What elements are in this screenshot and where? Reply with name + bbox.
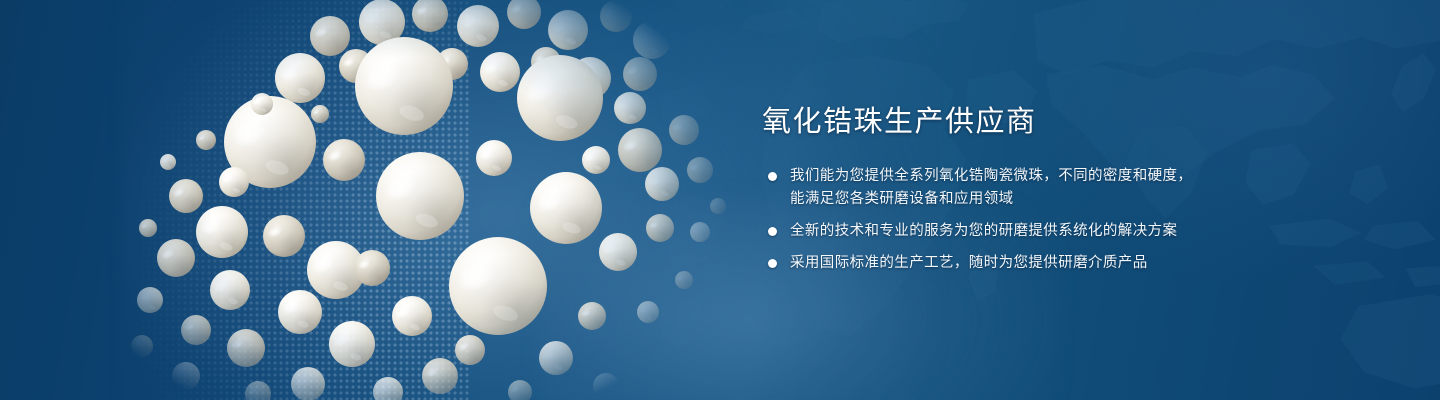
bullet-dot-icon <box>768 259 777 268</box>
bullet-text-line: 能满足您各类研磨设备和应用领域 <box>790 188 1382 211</box>
bullet-item-3: 采用国际标准的生产工艺，随时为您提供研磨介质产品 <box>762 252 1382 275</box>
hero-banner: 氧化锆珠生产供应商 我们能为您提供全系列氧化锆陶瓷微珠，不同的密度和硬度， 能满… <box>0 0 1440 400</box>
bullet-text-line: 全新的技术和专业的服务为您的研磨提供系统化的解决方案 <box>790 220 1382 243</box>
banner-bullet-list: 我们能为您提供全系列氧化锆陶瓷微珠，不同的密度和硬度， 能满足您各类研磨设备和应… <box>762 165 1382 275</box>
bullet-item-1: 我们能为您提供全系列氧化锆陶瓷微珠，不同的密度和硬度， 能满足您各类研磨设备和应… <box>762 165 1382 211</box>
bullet-text-line: 我们能为您提供全系列氧化锆陶瓷微珠，不同的密度和硬度， <box>790 165 1382 188</box>
bullet-dot-icon <box>768 172 777 181</box>
banner-headline: 氧化锆珠生产供应商 <box>762 104 1382 139</box>
zirconia-beads-image <box>0 0 760 400</box>
bullet-text-line: 采用国际标准的生产工艺，随时为您提供研磨介质产品 <box>790 252 1382 275</box>
bullet-item-2: 全新的技术和专业的服务为您的研磨提供系统化的解决方案 <box>762 220 1382 243</box>
banner-copy: 氧化锆珠生产供应商 我们能为您提供全系列氧化锆陶瓷微珠，不同的密度和硬度， 能满… <box>762 104 1382 275</box>
bullet-dot-icon <box>768 227 777 236</box>
